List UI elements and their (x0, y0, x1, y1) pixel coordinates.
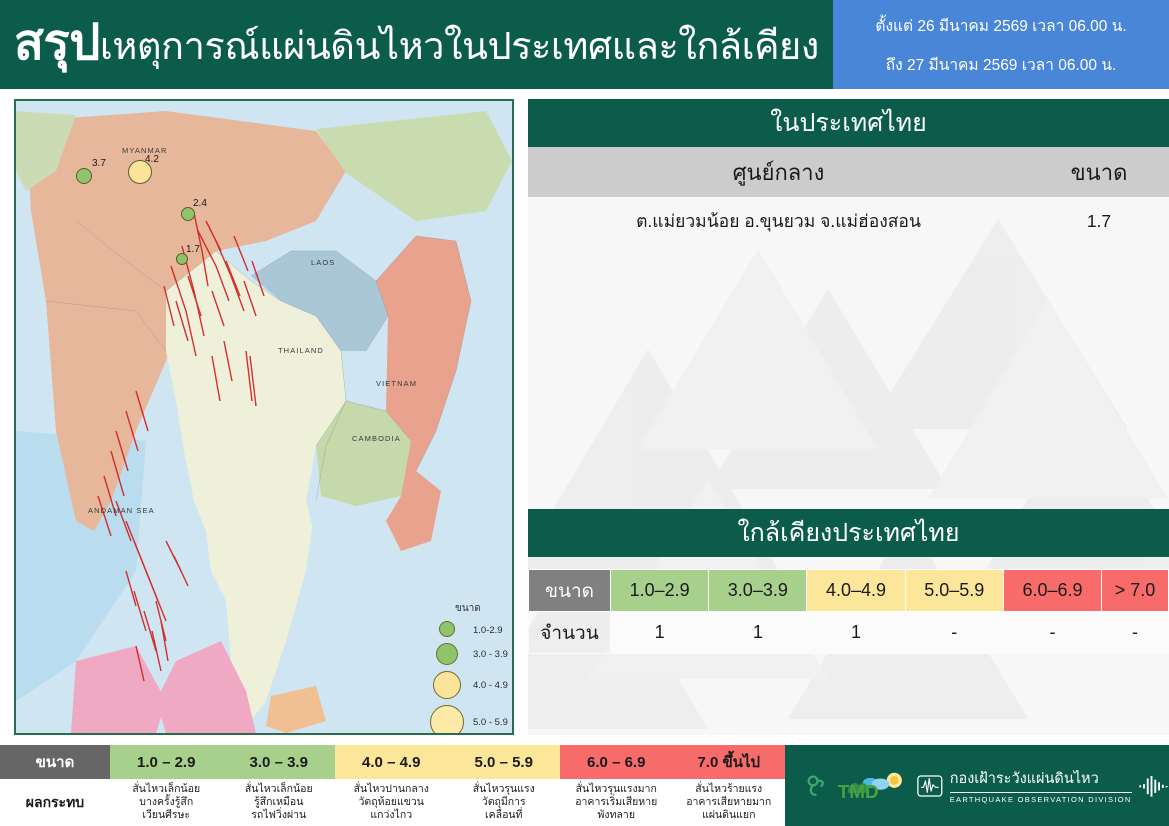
seismograph-icon (916, 764, 944, 808)
legend-range-6: 7.0 ขึ้นไป (673, 745, 786, 779)
magnitude-count-table: ขนาด 1.0–2.9 3.0–3.9 4.0–4.9 5.0–5.9 6.0… (528, 569, 1169, 654)
quake-value-1.7: 1.7 (186, 244, 200, 255)
map-legend-dot-4 (430, 705, 464, 735)
quake-marker-2.4[interactable] (181, 207, 195, 221)
legend-range-2: 3.0 – 3.9 (223, 745, 336, 779)
page-title-accent: สรุป (14, 16, 100, 70)
map-legend-label-4: 5.0 - 5.9 (473, 717, 508, 728)
legend-range-4: 5.0 – 5.9 (448, 745, 561, 779)
bin-label-6: > 7.0 (1102, 570, 1169, 612)
date-from: ตั้งแต่ 26 มีนาคม 2569 เวลา 06.00 น. (875, 13, 1126, 38)
organization-logo-bar: TMD กองเฝ้าระวังแผ่นดินไหว EARTHQUAKE OB… (785, 745, 1169, 826)
quake-value-2.4: 2.4 (193, 198, 207, 209)
quake-marker-3.7[interactable] (76, 168, 92, 184)
page-header: สรุปเหตุการณ์แผ่นดินไหวในประเทศและใกล้เค… (0, 0, 1169, 89)
right-content-panel: ในประเทศไทย ศูนย์กลาง ขนาด ต.แม่ยวมน้อย … (528, 99, 1169, 735)
cell-epicenter: ต.แม่ยวมน้อย อ.ขุนยวม จ.แม่ฮ่องสอน (528, 207, 1029, 235)
legend-effect-5: สั่นไหวรุนแรงมาก อาคารเริ่มเสียหาย พังทล… (560, 779, 673, 826)
quake-value-3.7: 3.7 (92, 158, 106, 169)
date-to: ถึง 27 มีนาคม 2569 เวลา 06.00 น. (886, 52, 1117, 77)
map-legend-dot-1 (439, 621, 455, 637)
legend-effect-3: สั่นไหวปานกลาง วัตถุห้อยแขวน แกว่งไกว (335, 779, 448, 826)
legend-effect-1: สั่นไหวเล็กน้อย บางครั้งรู้สึก เวียนศีรษ… (110, 779, 223, 826)
cell-magnitude: 1.7 (1029, 211, 1169, 232)
impact-legend: ขนาด 1.0 – 2.9 3.0 – 3.9 4.0 – 4.9 5.0 –… (0, 745, 785, 826)
legend-effect-4: สั่นไหวรุนแรง วัตถุมีการ เคลื่อนที่ (448, 779, 561, 826)
division-name-english: EARTHQUAKE OBSERVATION DIVISION (950, 795, 1132, 804)
page-title-rest: เหตุการณ์แผ่นดินไหวในประเทศและใกล้เคียง (100, 26, 819, 68)
bin-count-4: - (905, 612, 1003, 654)
column-header-magnitude: ขนาด (1029, 155, 1169, 190)
row-label-magnitude: ขนาด (529, 570, 611, 612)
map-legend-dot-2 (436, 643, 458, 665)
legend-row-label-magnitude: ขนาด (0, 745, 110, 779)
bin-label-5: 6.0–6.9 (1003, 570, 1101, 612)
map-legend-dot-3 (433, 671, 461, 699)
bin-label-1: 1.0–2.9 (611, 570, 709, 612)
bin-count-1: 1 (611, 612, 709, 654)
legend-range-5: 6.0 – 6.9 (560, 745, 673, 779)
bin-count-2: 1 (709, 612, 807, 654)
bin-label-3: 4.0–4.9 (807, 570, 905, 612)
nearby-section: ใกล้เคียงประเทศไทย ขนาด 1.0–2.9 3.0–3.9 … (528, 509, 1169, 654)
legend-row-label-effect: ผลกระทบ (0, 779, 110, 826)
bin-label-4: 5.0–5.9 (905, 570, 1003, 612)
row-label-count: จำนวน (529, 612, 611, 654)
nearby-section-header: ใกล้เคียงประเทศไทย (528, 509, 1169, 557)
bin-count-6: - (1102, 612, 1169, 654)
tmd-wordmark: TMD (838, 780, 879, 801)
map-legend-label-2: 3.0 - 3.9 (473, 649, 508, 660)
bin-count-5: - (1003, 612, 1101, 654)
division-name-thai: กองเฝ้าระวังแผ่นดินไหว (950, 767, 1132, 790)
nearby-section-title: ใกล้เคียงประเทศไทย (737, 513, 959, 553)
quake-value-4.2: 4.2 (145, 154, 159, 165)
thailand-section-header: ในประเทศไทย (528, 99, 1169, 147)
waveform-icon (1138, 766, 1169, 806)
map-legend-label-3: 4.0 - 4.9 (473, 680, 508, 691)
page-title: สรุปเหตุการณ์แผ่นดินไหวในประเทศและใกล้เค… (14, 6, 819, 84)
map-legend-label-1: 1.0-2.9 (473, 625, 503, 636)
earthquake-map[interactable]: MYANMAR LAOS THAILAND VIETNAM CAMBODIA A… (14, 99, 514, 735)
legend-range-3: 4.0 – 4.9 (335, 745, 448, 779)
legend-range-1: 1.0 – 2.9 (110, 745, 223, 779)
bottom-bar: ขนาด 1.0 – 2.9 3.0 – 3.9 4.0 – 4.9 5.0 –… (0, 745, 1169, 826)
thailand-table-header: ศูนย์กลาง ขนาด (528, 147, 1169, 197)
tmd-logo-icon: TMD (834, 763, 908, 809)
bin-count-3: 1 (807, 612, 905, 654)
thailand-section: ในประเทศไทย ศูนย์กลาง ขนาด ต.แม่ยวมน้อย … (528, 99, 1169, 245)
thailand-section-title: ในประเทศไทย (770, 103, 927, 143)
magnitude-count-row: จำนวน 1 1 1 - - - (529, 612, 1169, 654)
bin-label-2: 3.0–3.9 (709, 570, 807, 612)
map-legend-title: ขนาด (455, 601, 481, 616)
column-header-epicenter: ศูนย์กลาง (528, 155, 1029, 190)
table-row: ต.แม่ยวมน้อย อ.ขุนยวม จ.แม่ฮ่องสอน 1.7 (528, 197, 1169, 245)
magnitude-bin-row: ขนาด 1.0–2.9 3.0–3.9 4.0–4.9 5.0–5.9 6.0… (529, 570, 1169, 612)
date-range-panel: ตั้งแต่ 26 มีนาคม 2569 เวลา 06.00 น. ถึง… (833, 0, 1169, 89)
map-graphic (16, 101, 512, 733)
legend-effect-2: สั่นไหวเล็กน้อย รู้สึกเหมือน รถไฟวิ่งผ่า… (223, 779, 336, 826)
tmd-swirl-icon (803, 764, 832, 808)
legend-effect-6: สั่นไหวร้ายแรง อาคารเสียหายมาก แผ่นดินแย… (673, 779, 786, 826)
